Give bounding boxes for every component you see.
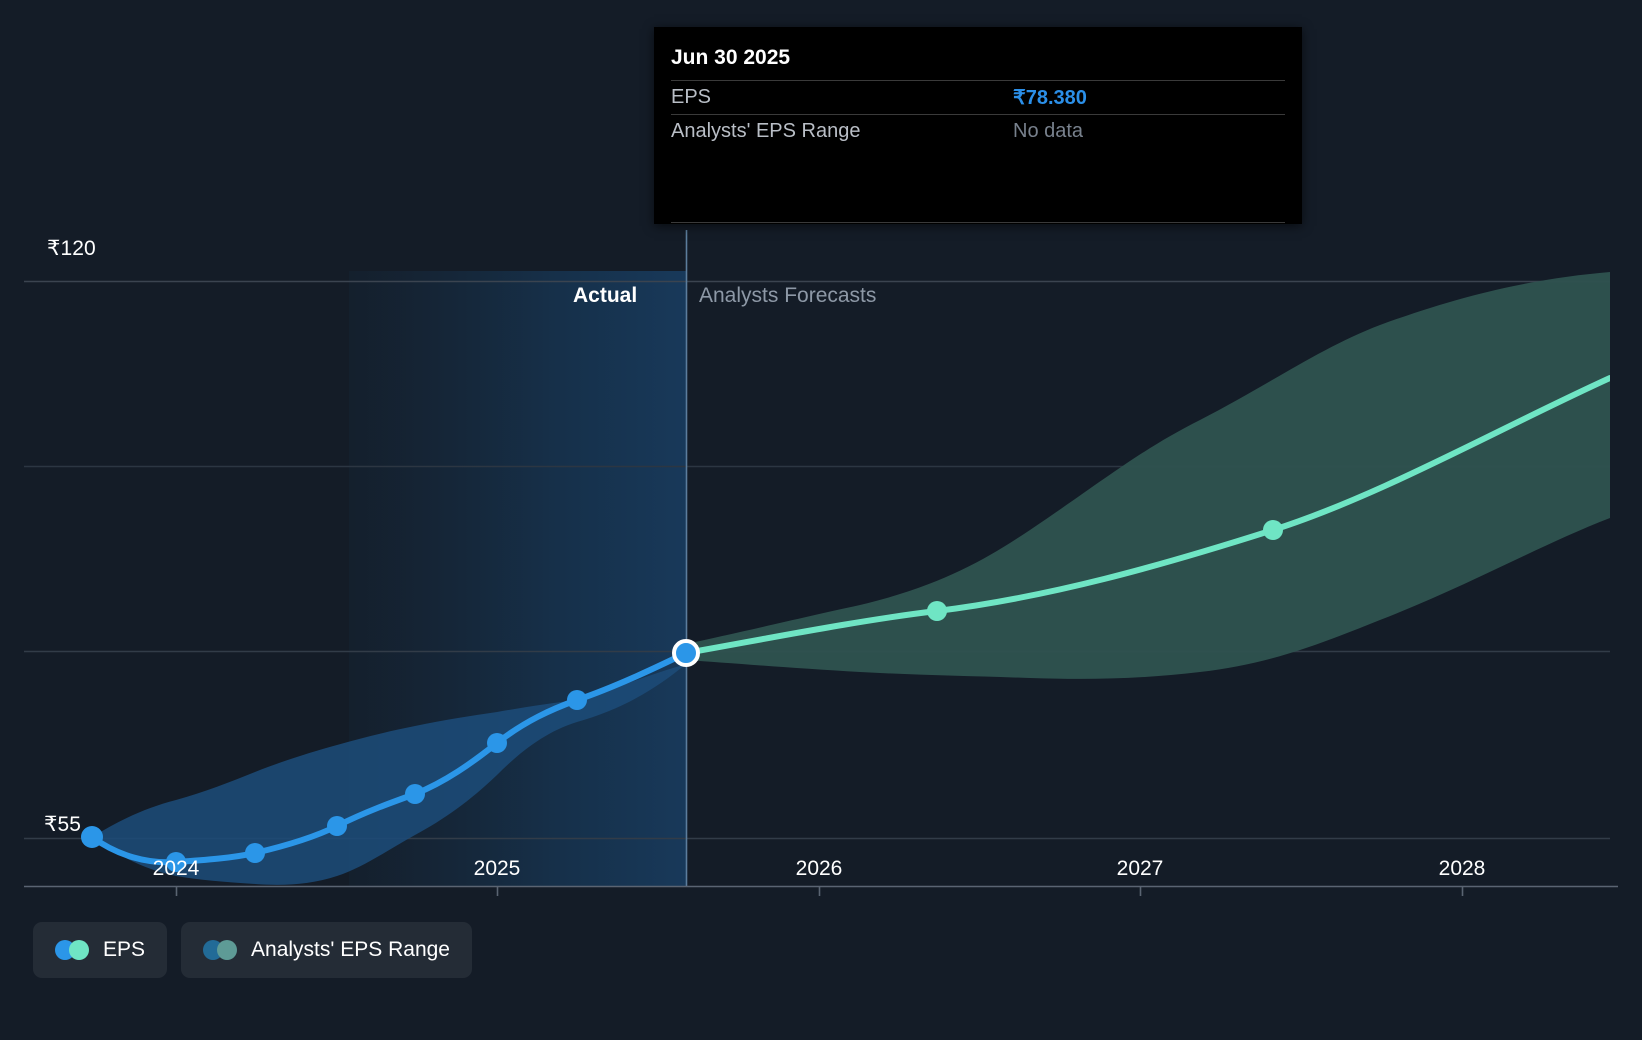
tooltip-row-eps: EPS ₹78.380 xyxy=(671,80,1285,114)
data-point xyxy=(487,733,507,753)
x-tick-2028: 2028 xyxy=(1439,857,1486,881)
tooltip-key-range: Analysts' EPS Range xyxy=(671,120,1013,143)
forecast-section-label: Analysts Forecasts xyxy=(699,284,876,308)
tooltip-date: Jun 30 2025 xyxy=(671,45,1285,80)
data-point xyxy=(405,784,425,804)
chart-legend: EPS Analysts' EPS Range xyxy=(33,922,472,978)
data-point xyxy=(327,816,347,836)
forecast-range-band xyxy=(686,272,1610,679)
data-tooltip: Jun 30 2025 EPS ₹78.380 Analysts' EPS Ra… xyxy=(654,27,1302,224)
legend-label-eps: EPS xyxy=(103,938,145,962)
data-point xyxy=(567,690,587,710)
data-point xyxy=(1263,520,1283,540)
data-point xyxy=(81,826,103,848)
tooltip-footer-divider xyxy=(671,222,1285,224)
legend-swatch-range-icon xyxy=(203,940,237,960)
x-tick-2024: 2024 xyxy=(153,857,200,881)
legend-item-analysts-range[interactable]: Analysts' EPS Range xyxy=(181,922,472,978)
tooltip-value-eps: ₹78.380 xyxy=(1013,85,1087,110)
tooltip-key-eps: EPS xyxy=(671,86,1013,109)
data-point xyxy=(927,601,947,621)
data-point xyxy=(245,843,265,863)
eps-forecast-chart: ₹120 ₹55 2024 2025 2026 2027 2028 Actual… xyxy=(0,0,1642,1040)
tooltip-row-range: Analysts' EPS Range No data xyxy=(671,114,1285,148)
tooltip-value-range: No data xyxy=(1013,120,1083,143)
x-tick-2026: 2026 xyxy=(796,857,843,881)
x-tick-2027: 2027 xyxy=(1117,857,1164,881)
legend-label-analysts-range: Analysts' EPS Range xyxy=(251,938,450,962)
legend-swatch-eps-icon xyxy=(55,940,89,960)
x-tick-2025: 2025 xyxy=(474,857,521,881)
legend-item-eps[interactable]: EPS xyxy=(33,922,167,978)
selected-data-point[interactable] xyxy=(674,641,698,665)
x-axis xyxy=(24,886,1618,896)
